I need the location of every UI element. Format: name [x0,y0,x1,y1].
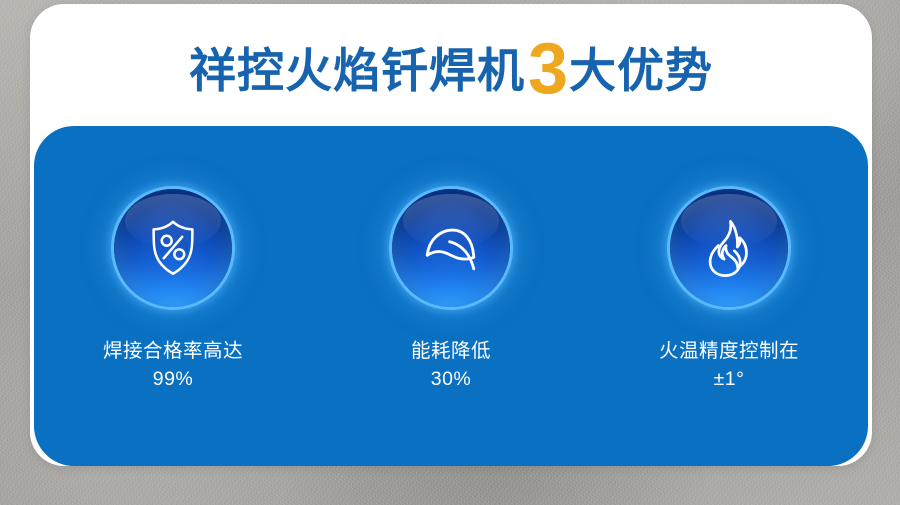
feature-caption-line-1: 火温精度控制在 [659,340,799,362]
feature-item: 能耗降低 30% [322,189,580,394]
feature-icon-badge [670,189,788,307]
feature-icon-badge [392,189,510,307]
headline-accent-number: 3 [528,29,568,109]
feature-caption: 火温精度控制在 ±1° [659,337,799,394]
features-panel: 焊接合格率高达 99% [34,126,868,466]
page-title: 祥控火焰钎焊机3大优势 [30,27,872,99]
features-row: 焊接合格率高达 99% [34,126,868,466]
feature-caption-line-2: 30% [411,365,491,393]
feature-caption: 焊接合格率高达 99% [103,337,243,394]
shield-percent-icon [142,217,204,279]
feature-caption-line-2: ±1° [659,365,799,393]
feature-caption-line-1: 能耗降低 [411,340,491,362]
poster-canvas: 祥控火焰钎焊机3大优势 [0,0,900,505]
feature-item: 焊接合格率高达 99% [44,189,302,394]
white-card: 祥控火焰钎焊机3大优势 [30,4,872,466]
headline-part-1: 祥控火焰钎焊机 [189,44,525,97]
leaf-icon [420,217,482,279]
headline-part-2: 大优势 [569,44,713,97]
feature-caption-line-2: 99% [103,365,243,393]
feature-icon-badge [114,189,232,307]
feature-caption-line-1: 焊接合格率高达 [103,340,243,362]
flame-icon [698,217,760,279]
feature-item: 火温精度控制在 ±1° [600,189,858,394]
feature-caption: 能耗降低 30% [411,337,491,394]
